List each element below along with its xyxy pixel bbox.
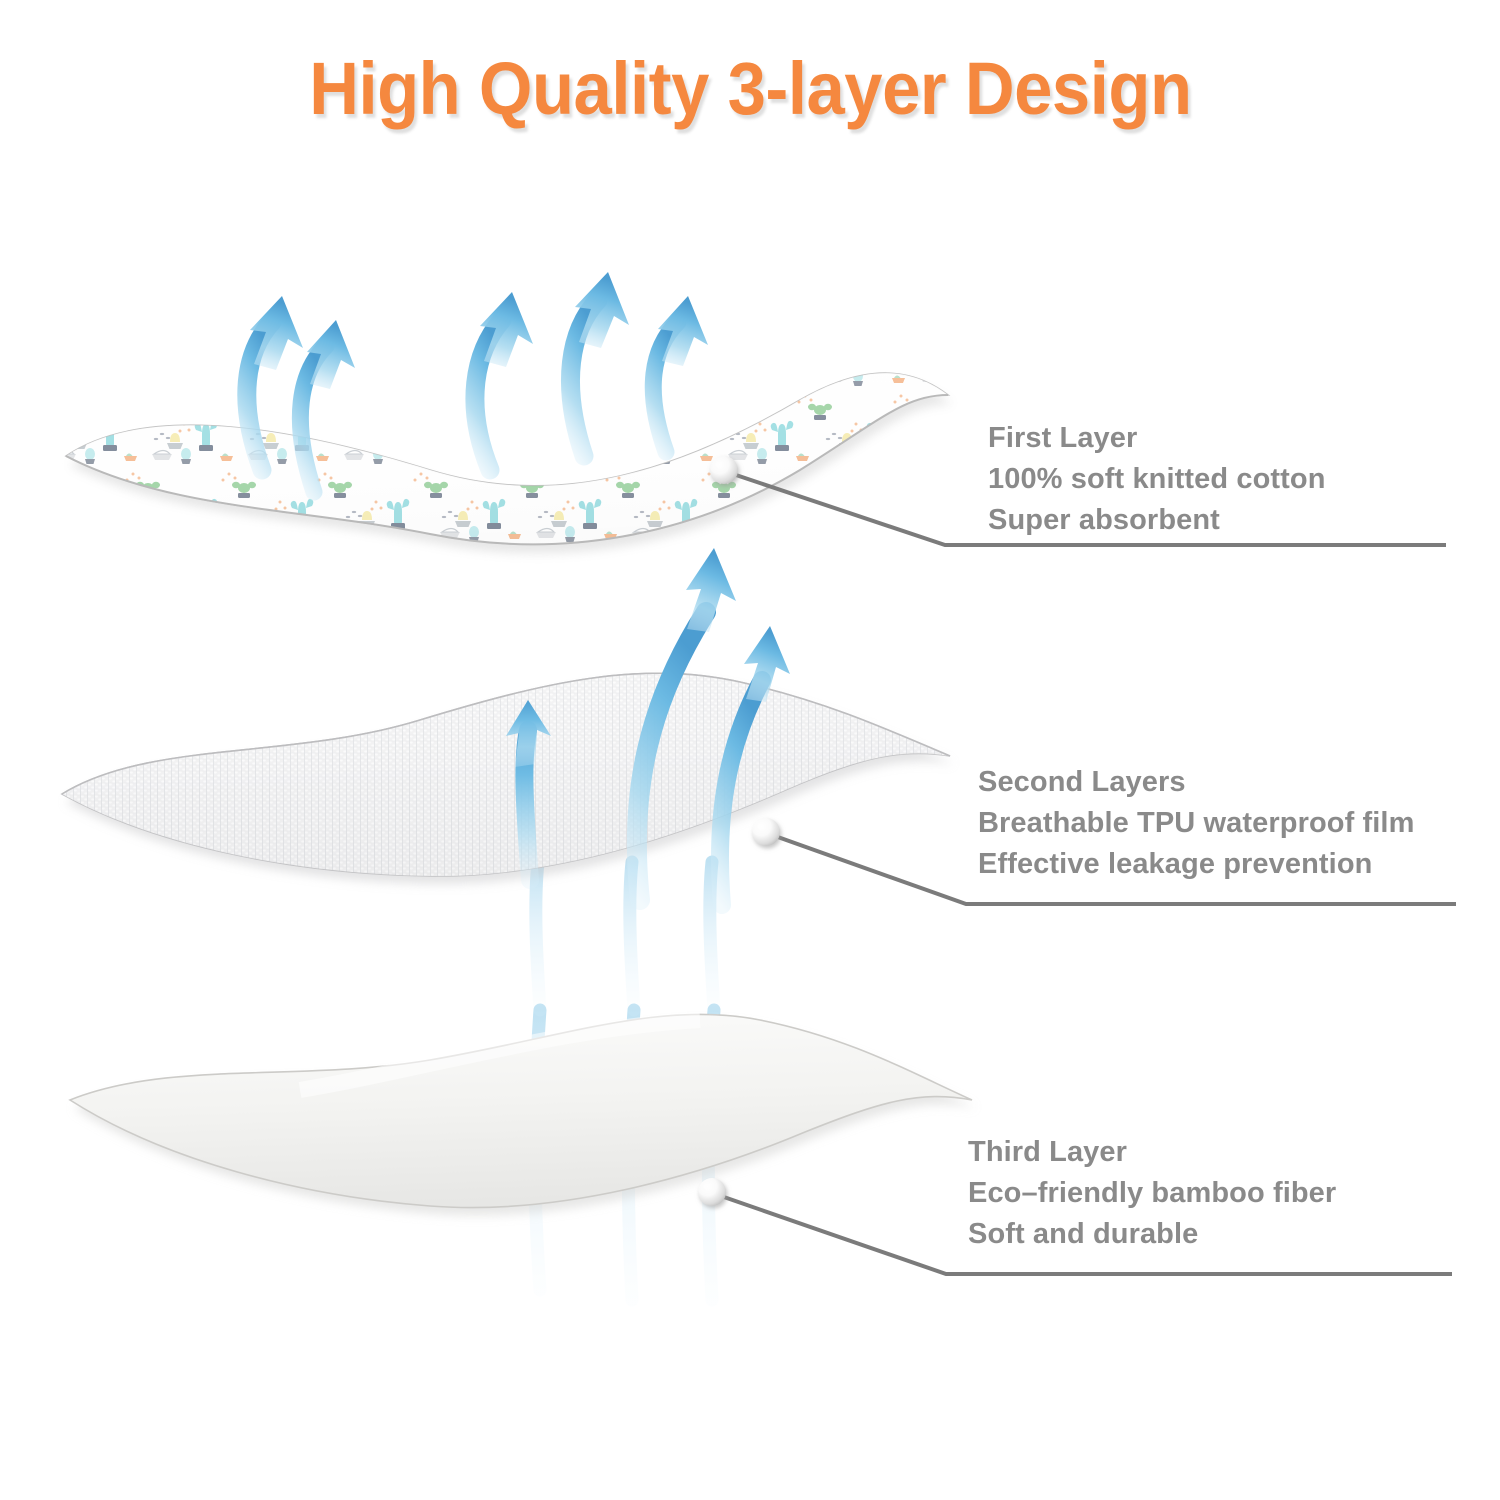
layer-2-sheet [50, 650, 970, 900]
first-layer-line-2: 100% soft knitted cotton [988, 459, 1326, 500]
layer-diagram [0, 0, 1500, 1500]
third-layer-heading: Third Layer [968, 1132, 1336, 1173]
callout-bead-3 [698, 1178, 726, 1206]
second-layer-heading: Second Layers [978, 762, 1414, 803]
callout-text-first-layer: First Layer 100% soft knitted cotton Sup… [988, 418, 1326, 541]
callout-bead-2 [752, 818, 780, 846]
callout-bead-1 [710, 456, 738, 484]
callout-text-third-layer: Third Layer Eco–friendly bamboo fiber So… [968, 1132, 1336, 1255]
third-layer-line-2: Eco–friendly bamboo fiber [968, 1173, 1336, 1214]
first-layer-heading: First Layer [988, 418, 1326, 459]
layer-3-sheet [70, 1014, 976, 1215]
third-layer-line-3: Soft and durable [968, 1214, 1336, 1255]
airflow-mid-tails [536, 862, 714, 1010]
second-layer-line-3: Effective leakage prevention [978, 844, 1414, 885]
second-layer-line-2: Breathable TPU waterproof film [978, 803, 1414, 844]
callout-text-second-layer: Second Layers Breathable TPU waterproof … [978, 762, 1414, 885]
layer-1-sheet [50, 350, 970, 580]
infographic-canvas: High Quality 3-layer Design [0, 0, 1500, 1500]
first-layer-line-3: Super absorbent [988, 500, 1326, 541]
